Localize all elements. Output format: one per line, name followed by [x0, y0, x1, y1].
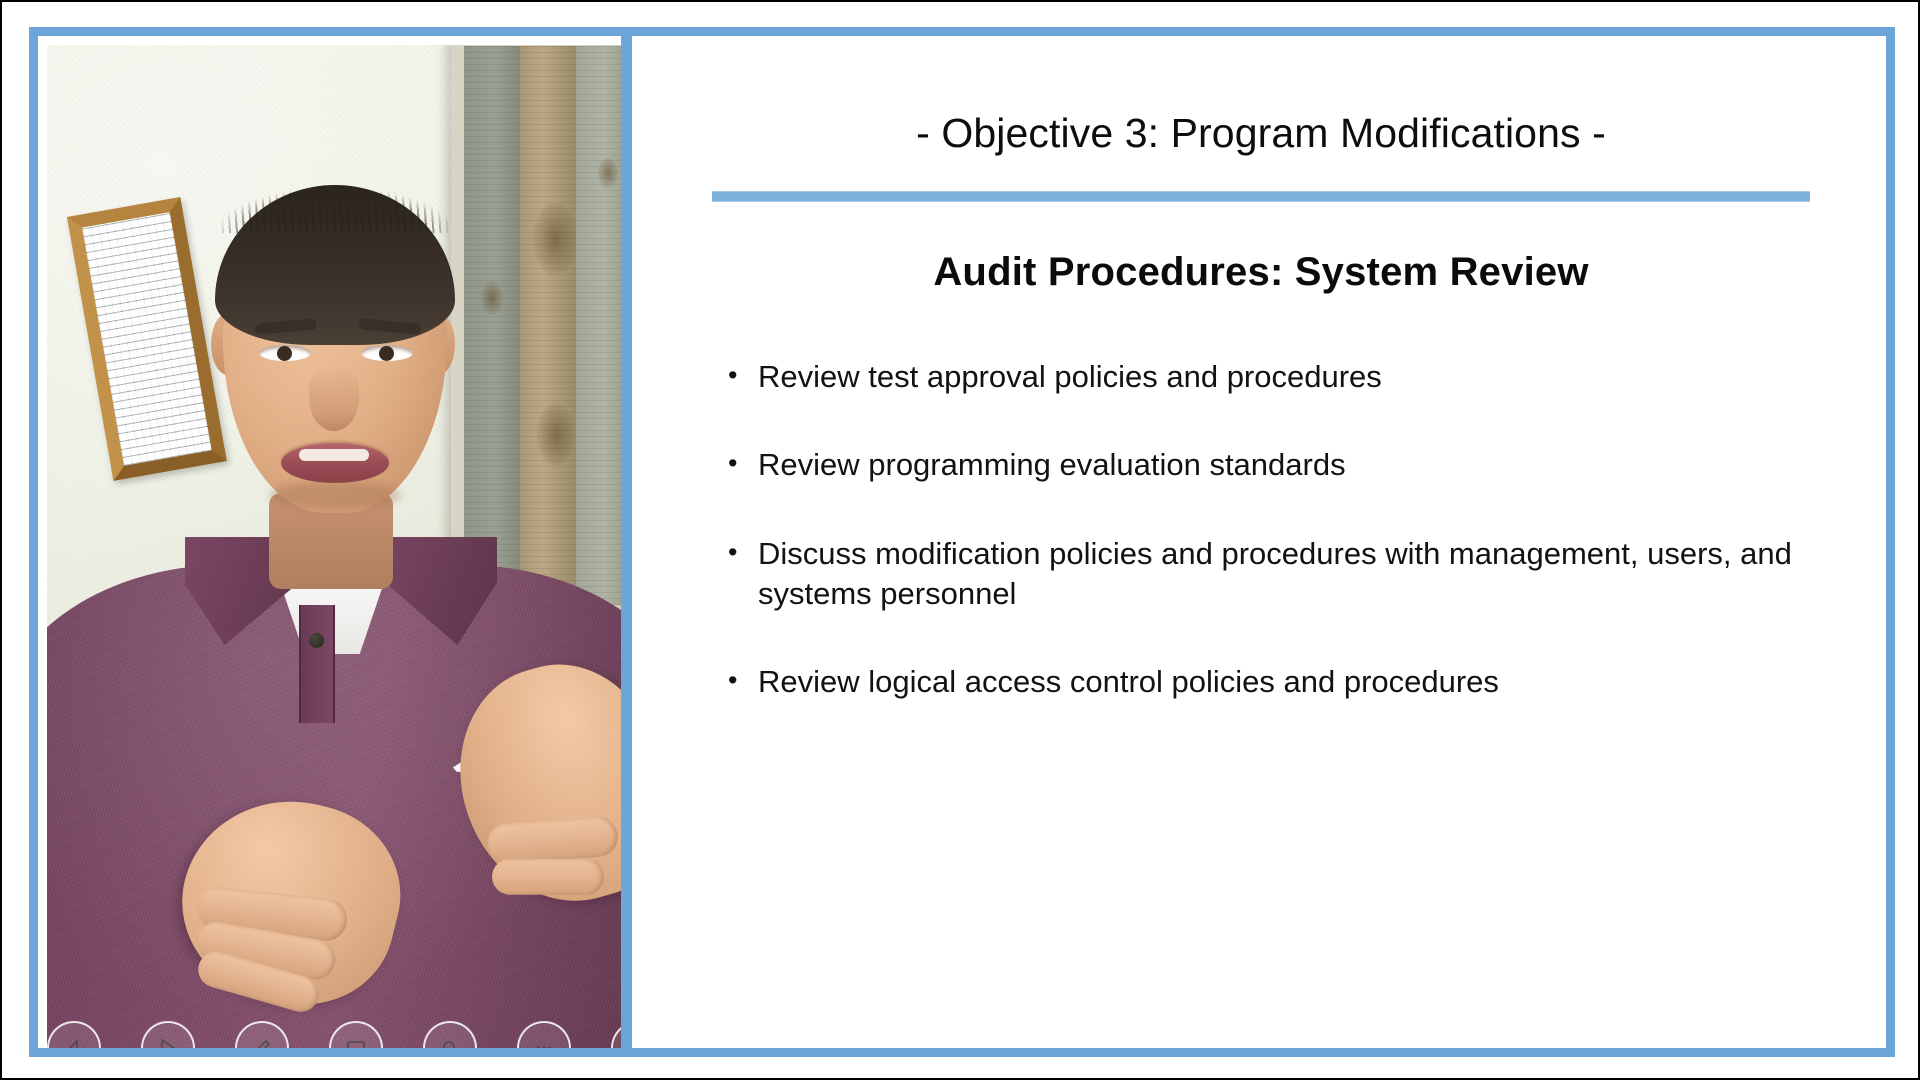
bullet-text: Review programming evaluation standards	[758, 445, 1830, 485]
bullet-dot-icon: •	[728, 534, 758, 570]
slide-content-pane: - Objective 3: Program Modifications - A…	[632, 36, 1886, 1048]
bullet-dot-icon: •	[728, 445, 758, 481]
speaker-nose	[309, 365, 359, 431]
speaker-shirt-button	[309, 633, 324, 648]
presentation-frame: - Objective 3: Program Modifications - A…	[29, 27, 1895, 1057]
slide-objective-title: - Objective 3: Program Modifications -	[692, 110, 1830, 157]
speaker-video[interactable]	[47, 45, 621, 1048]
bullet-text: Discuss modification policies and proced…	[758, 534, 1830, 615]
list-item: • Review programming evaluation standard…	[728, 445, 1830, 485]
bullet-text: Review logical access control policies a…	[758, 662, 1830, 702]
presentation-body: - Objective 3: Program Modifications - A…	[38, 36, 1886, 1048]
speaker-shirt-placket	[299, 605, 335, 723]
bullet-dot-icon: •	[728, 662, 758, 698]
title-underline-rule	[712, 191, 1810, 202]
slide-heading: Audit Procedures: System Review	[692, 250, 1830, 295]
list-item: • Review logical access control policies…	[728, 662, 1830, 702]
speaker-chin-shadow	[269, 481, 401, 509]
screen-root: - Objective 3: Program Modifications - A…	[0, 0, 1920, 1080]
list-item: • Review test approval policies and proc…	[728, 357, 1830, 397]
speaker-eye-right	[361, 345, 413, 361]
speaker-figure	[47, 45, 621, 1048]
pane-divider	[621, 36, 632, 1048]
slide-bullet-list: • Review test approval policies and proc…	[728, 357, 1830, 702]
speaker-video-pane[interactable]	[38, 36, 621, 1048]
window-mat: - Objective 3: Program Modifications - A…	[2, 2, 1918, 1078]
list-item: • Discuss modification policies and proc…	[728, 534, 1830, 615]
bullet-text: Review test approval policies and proced…	[758, 357, 1830, 397]
speaker-eye-left	[259, 345, 311, 361]
speaker-hair-spikes	[215, 173, 455, 233]
speaker-teeth	[299, 449, 369, 461]
bullet-dot-icon: •	[728, 357, 758, 393]
